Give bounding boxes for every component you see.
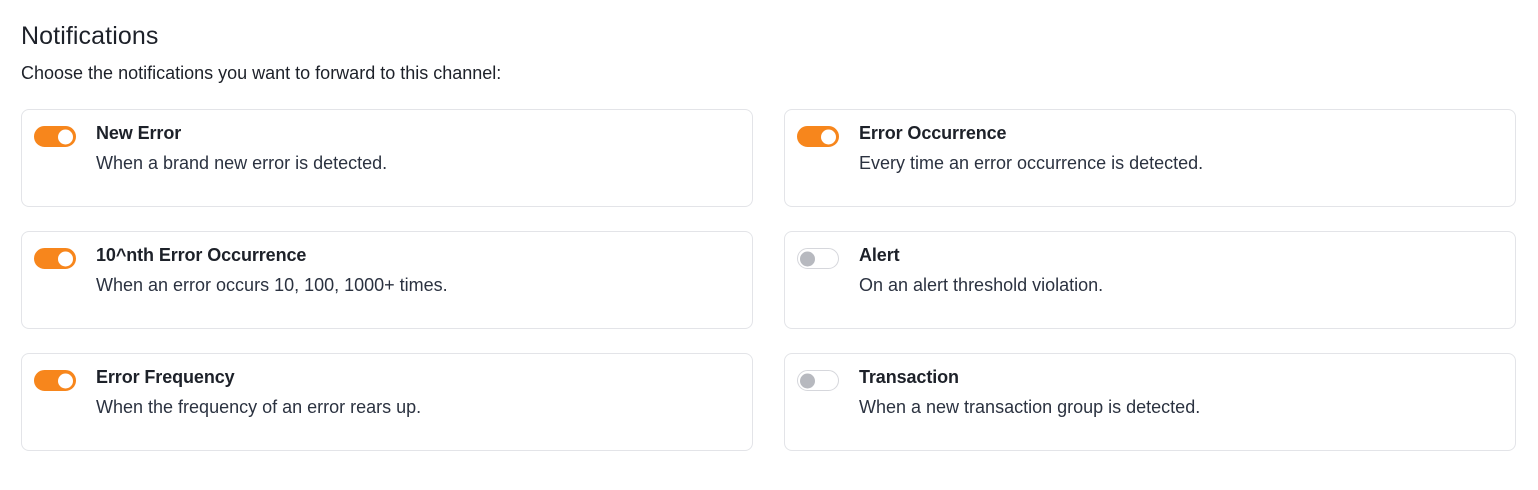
notification-description: When a brand new error is detected. <box>96 152 387 175</box>
page-title: Notifications <box>21 0 1517 52</box>
notification-title: Alert <box>859 244 1103 266</box>
toggle-knob-icon <box>58 251 73 266</box>
notification-text-error-occurrence: Error Occurrence Every time an error occ… <box>859 122 1203 175</box>
notification-description: When an error occurs 10, 100, 1000+ time… <box>96 274 448 297</box>
notification-card-transaction[interactable]: Transaction When a new transaction group… <box>784 353 1516 451</box>
notification-text-error-frequency: Error Frequency When the frequency of an… <box>96 366 421 419</box>
toggle-knob-icon <box>821 129 836 144</box>
notification-cards-grid: New Error When a brand new error is dete… <box>21 109 1517 451</box>
notification-title: Error Occurrence <box>859 122 1203 144</box>
notification-title: 10^nth Error Occurrence <box>96 244 448 266</box>
toggle-error-occurrence[interactable] <box>797 126 839 147</box>
notification-card-error-occurrence[interactable]: Error Occurrence Every time an error occ… <box>784 109 1516 207</box>
toggle-knob-icon <box>800 373 815 388</box>
toggle-alert[interactable] <box>797 248 839 269</box>
notification-description: Every time an error occurrence is detect… <box>859 152 1203 175</box>
notification-card-nth-error-occurrence[interactable]: 10^nth Error Occurrence When an error oc… <box>21 231 753 329</box>
toggle-new-error[interactable] <box>34 126 76 147</box>
toggle-nth-error-occurrence[interactable] <box>34 248 76 269</box>
notification-description: On an alert threshold violation. <box>859 274 1103 297</box>
notification-title: Error Frequency <box>96 366 421 388</box>
notification-text-nth-error-occurrence: 10^nth Error Occurrence When an error oc… <box>96 244 448 297</box>
notification-card-alert[interactable]: Alert On an alert threshold violation. <box>784 231 1516 329</box>
notification-description: When a new transaction group is detected… <box>859 396 1200 419</box>
notification-text-alert: Alert On an alert threshold violation. <box>859 244 1103 297</box>
toggle-knob-icon <box>58 129 73 144</box>
notification-text-transaction: Transaction When a new transaction group… <box>859 366 1200 419</box>
notification-title: New Error <box>96 122 387 144</box>
notification-description: When the frequency of an error rears up. <box>96 396 421 419</box>
toggle-error-frequency[interactable] <box>34 370 76 391</box>
page-subtitle: Choose the notifications you want to for… <box>21 52 1517 85</box>
notification-text-new-error: New Error When a brand new error is dete… <box>96 122 387 175</box>
toggle-knob-icon <box>800 251 815 266</box>
notification-card-error-frequency[interactable]: Error Frequency When the frequency of an… <box>21 353 753 451</box>
notifications-settings-page: Notifications Choose the notifications y… <box>0 0 1538 490</box>
notification-card-new-error[interactable]: New Error When a brand new error is dete… <box>21 109 753 207</box>
notification-title: Transaction <box>859 366 1200 388</box>
toggle-knob-icon <box>58 373 73 388</box>
toggle-transaction[interactable] <box>797 370 839 391</box>
